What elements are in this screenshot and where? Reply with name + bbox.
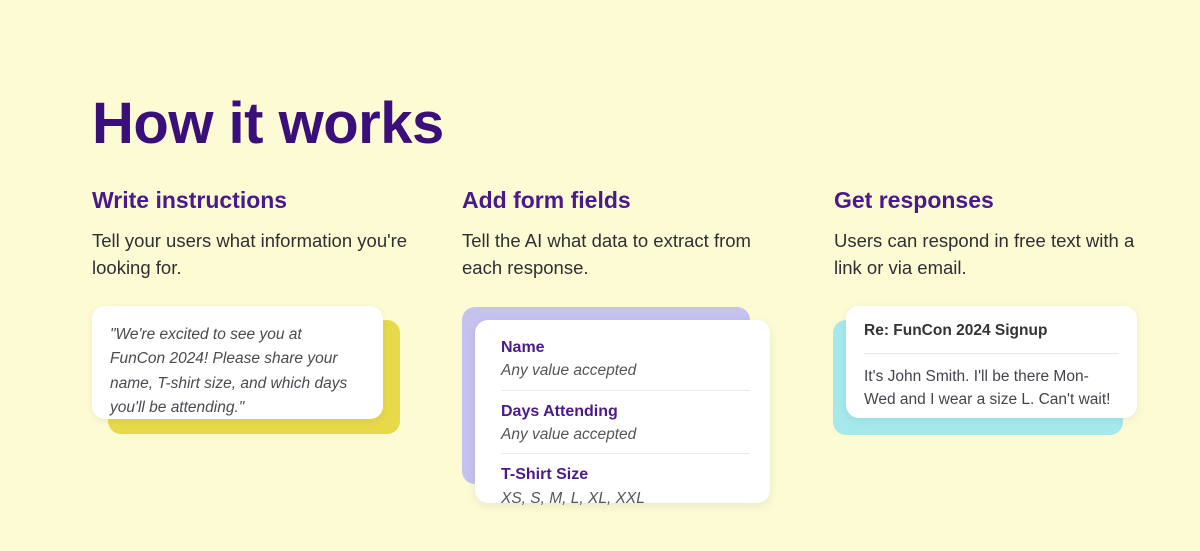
form-field-value: Any value accepted <box>501 360 750 382</box>
step-column-add-form-fields: Add form fields Tell the AI what data to… <box>462 186 792 282</box>
card-surface: Name Any value accepted Days Attending A… <box>475 320 770 503</box>
email-divider <box>864 353 1119 354</box>
card-surface: Re: FunCon 2024 Signup It's John Smith. … <box>846 306 1137 418</box>
card-surface: "We're excited to see you at FunCon 2024… <box>92 306 383 419</box>
step-description: Tell your users what information you're … <box>92 227 432 282</box>
step-column-get-responses: Get responses Users can respond in free … <box>834 186 1139 282</box>
step-column-write-instructions: Write instructions Tell your users what … <box>92 186 432 282</box>
form-field-label: Days Attending <box>501 400 750 423</box>
instruction-quote-text: "We're excited to see you at FunCon 2024… <box>110 323 361 421</box>
step-title: Write instructions <box>92 186 432 215</box>
instruction-quote-card: "We're excited to see you at FunCon 2024… <box>92 306 404 438</box>
form-field-row[interactable]: Name Any value accepted <box>501 336 750 391</box>
step-title: Add form fields <box>462 186 792 215</box>
form-field-row[interactable]: Days Attending Any value accepted <box>501 400 750 455</box>
form-field-label: T-Shirt Size <box>501 463 750 486</box>
form-field-row[interactable]: T-Shirt Size XS, S, M, L, XL, XXL <box>501 463 750 510</box>
step-description: Tell the AI what data to extract from ea… <box>462 227 792 282</box>
form-field-value: Any value accepted <box>501 424 750 446</box>
email-response-card: Re: FunCon 2024 Signup It's John Smith. … <box>833 306 1138 436</box>
email-body-text: It's John Smith. I'll be there Mon-Wed a… <box>864 366 1119 412</box>
how-it-works-section: How it works Write instructions Tell you… <box>0 0 1200 551</box>
email-subject: Re: FunCon 2024 Signup <box>864 320 1119 342</box>
form-field-label: Name <box>501 336 750 359</box>
step-description: Users can respond in free text with a li… <box>834 227 1139 282</box>
form-fields-card: Name Any value accepted Days Attending A… <box>462 307 770 503</box>
form-field-value: XS, S, M, L, XL, XXL <box>501 488 750 510</box>
page-title: How it works <box>92 91 444 158</box>
step-title: Get responses <box>834 186 1139 215</box>
